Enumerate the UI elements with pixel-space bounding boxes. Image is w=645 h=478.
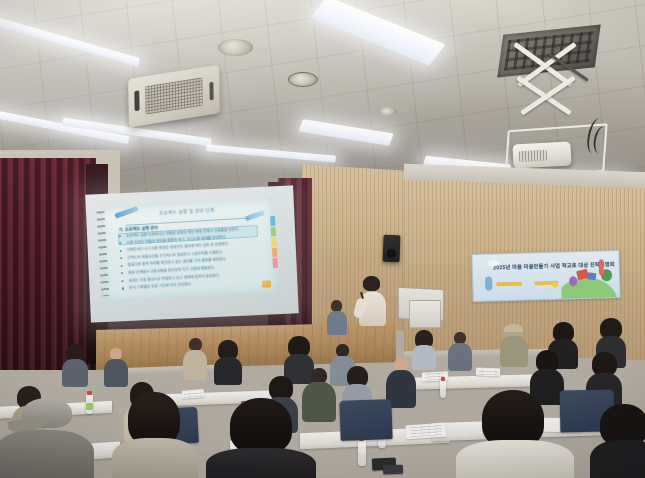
projector-vent-grille (519, 149, 547, 161)
attendee-row1-10 (62, 344, 88, 384)
attendee-front-white-coat (456, 390, 574, 478)
slide-bullet-dot (119, 242, 121, 244)
attendee-body (0, 430, 94, 478)
bottle-cap (87, 391, 92, 395)
recessed-light-2 (288, 72, 318, 87)
slide-bullet-line: 문서·기록물은 보존 기간에 따라 관리한다. (129, 282, 192, 291)
banner-character-left (485, 277, 492, 291)
chair-front-1[interactable] (339, 399, 392, 441)
attendee-body (590, 440, 645, 478)
slide-bullet-dot (120, 257, 122, 259)
slide-spiral-binding (96, 210, 109, 296)
slide-bullet-dot (122, 287, 124, 289)
bottle-label (358, 453, 366, 462)
slide-bullet-dot (119, 249, 121, 251)
attendee-front-center (206, 398, 316, 478)
ac-vent-left (135, 91, 140, 111)
attendee-body (448, 343, 472, 371)
lecture-hall-photo: 프로젝트 실행 및 관리 단계 가. 프로젝트 실행 관리 프로젝트 실행 단계… (0, 0, 645, 478)
ac-vent-right (209, 82, 214, 100)
slide-side-chips (270, 215, 278, 267)
attendee-row1-2 (214, 340, 242, 382)
attendee-front-ponytail (112, 392, 198, 478)
handout-paper (476, 368, 500, 377)
attendee-body (206, 448, 316, 478)
banner-sun (552, 282, 558, 288)
handout-paper (406, 423, 447, 440)
slide-title-bar: 프로젝트 실행 및 관리 단계 (124, 205, 249, 226)
projector (512, 141, 571, 168)
chip-pink (272, 258, 278, 268)
attendee-hair (230, 398, 292, 454)
attendee-row1-7 (500, 324, 528, 366)
paper-lines (478, 369, 497, 376)
bottle-cap (441, 377, 445, 381)
attendee-front-stage (326, 300, 348, 334)
attendee-row1-6 (448, 332, 472, 370)
presenter-hair (363, 276, 380, 291)
chip-orange (272, 247, 278, 257)
slide-bullet-dot (120, 264, 122, 266)
table-mid-right (398, 374, 548, 390)
attendee-row1-1 (182, 338, 208, 378)
attendee-body (62, 359, 88, 387)
slide-bullet-dot (121, 272, 123, 274)
slide-title: 프로젝트 실행 및 관리 단계 (124, 205, 248, 218)
slide-corner-mark (261, 280, 270, 288)
banner-book-blue (587, 272, 597, 280)
chip-green (270, 226, 276, 236)
recessed-light-3 (378, 107, 397, 116)
attendee-body (327, 311, 347, 335)
ac-grille (145, 77, 204, 115)
attendee-front-cap-man (0, 398, 94, 478)
water-bottle (440, 380, 446, 398)
slide-bullet-dot (121, 279, 123, 281)
attendee-body (183, 350, 207, 380)
chip-blue (270, 215, 276, 225)
presentation-slide: 프로젝트 실행 및 관리 단계 가. 프로젝트 실행 관리 프로젝트 실행 단계… (100, 197, 278, 302)
projection-screen: 프로젝트 실행 및 관리 단계 가. 프로젝트 실행 관리 프로젝트 실행 단계… (85, 185, 299, 322)
wall-door-panel (409, 300, 441, 328)
attendee-front-right-dark (590, 404, 645, 478)
attendee-body (500, 336, 528, 367)
recessed-light-1 (218, 39, 253, 56)
water-bottle (358, 440, 366, 466)
chip-yellow (271, 237, 277, 247)
wall-speaker (383, 235, 401, 263)
attendee-row1-11 (104, 348, 128, 386)
presenter (355, 276, 391, 328)
attendee-body (214, 357, 242, 385)
paper-lines (410, 425, 443, 438)
attendee-row2-5 (386, 358, 416, 406)
attendee-body (112, 438, 198, 478)
attendee-body (456, 440, 574, 478)
curtain-left (0, 158, 96, 370)
banner-tag-1 (497, 281, 523, 286)
mobile-phone (383, 465, 403, 475)
slide-bullet-dot (119, 235, 121, 237)
event-banner: 2025년 마을 마을만들기 사업 학교로 대상 진학설명회 주최 · 주관 안… (471, 250, 618, 300)
banner-tower (598, 260, 603, 276)
